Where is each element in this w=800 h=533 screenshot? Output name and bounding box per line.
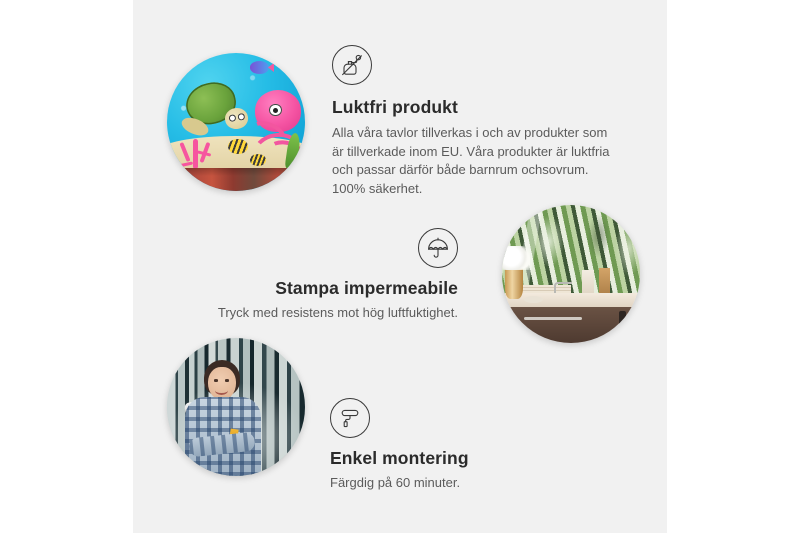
bathroom-scene — [502, 205, 640, 343]
paint-roller-icon — [330, 398, 370, 438]
feature-waterproof: Stampa impermeabile Tryck med resistens … — [158, 228, 458, 323]
underwater-artwork — [167, 53, 305, 191]
wood-cabinet — [510, 307, 640, 343]
octopus-eye — [269, 104, 281, 116]
feature-odour-free: Luktfri produkt Alla våra tavlor tillver… — [332, 45, 632, 198]
feature-body: Färgdig på 60 minuter. — [330, 474, 630, 493]
yellow-striped-fish — [228, 139, 249, 154]
icon-container — [158, 228, 458, 268]
seabed-rocks — [167, 168, 305, 191]
image-painter-forest-mural — [167, 338, 305, 476]
feature-title: Luktfri produkt — [332, 97, 632, 118]
no-spray-bottle-icon — [332, 45, 372, 85]
white-flowers — [502, 246, 530, 269]
image-bathroom-tropical-wallpaper — [502, 205, 640, 343]
feature-easy-mounting: Enkel montering Färgdig på 60 minuter. — [330, 398, 630, 493]
woman-face — [208, 367, 236, 400]
feature-body: Tryck med resistens mot hög luftfuktighe… — [158, 304, 458, 323]
feature-body: Alla våra tavlor tillverkas i och av pro… — [332, 124, 616, 198]
promo-feature-banner: Luktfri produkt Alla våra tavlor tillver… — [0, 0, 800, 533]
blue-fish — [250, 61, 269, 73]
coral — [175, 130, 216, 169]
painter-scene — [167, 338, 305, 476]
feature-title: Enkel montering — [330, 448, 630, 469]
image-underwater-cartoon — [167, 53, 305, 191]
umbrella-icon — [418, 228, 458, 268]
feature-title: Stampa impermeabile — [158, 278, 458, 299]
